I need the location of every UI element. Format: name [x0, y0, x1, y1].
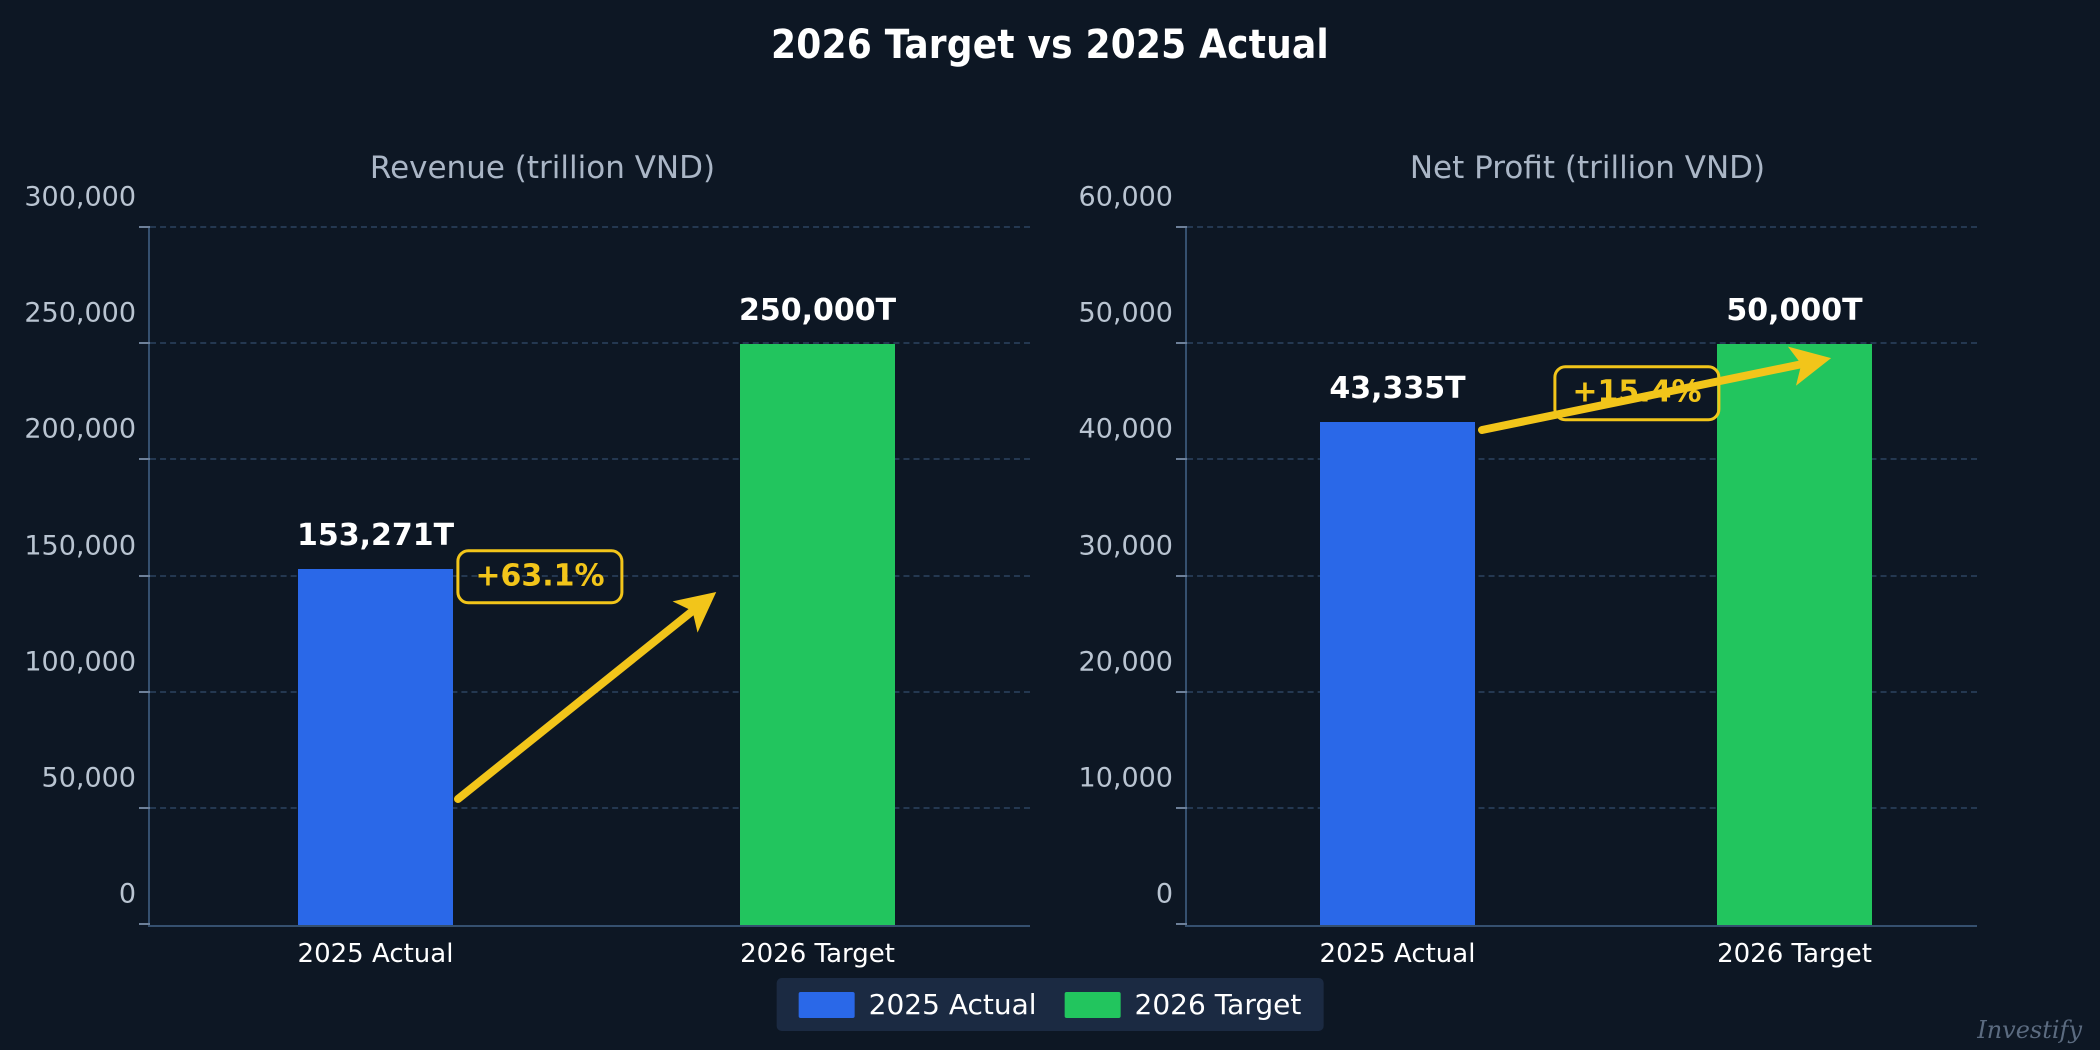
legend-label: 2026 Target: [1135, 988, 1302, 1021]
legend-item-2026-target[interactable]: 2026 Target: [1065, 988, 1302, 1021]
bar-revenue-2025-actual[interactable]: [298, 569, 453, 925]
legend-label: 2025 Actual: [869, 988, 1037, 1021]
ytick-label: 0: [119, 879, 136, 910]
ytick-label: 150,000: [24, 530, 136, 561]
legend-swatch-green: [1065, 992, 1121, 1018]
bar-value-label: 50,000T: [1726, 293, 1862, 328]
ytick-label: 30,000: [1079, 530, 1173, 561]
growth-badge-revenue: +63.1%: [456, 549, 623, 605]
ytick-label: 0: [1156, 879, 1173, 910]
bar-revenue-2026-target[interactable]: [740, 344, 895, 925]
xtick-label: 2026 Target: [740, 939, 895, 969]
subplot-title-net-profit: Net Profit (trillion VND): [1050, 150, 2100, 186]
ytick-label: 10,000: [1079, 762, 1173, 793]
ytick-label: 20,000: [1079, 646, 1173, 677]
ytick-label: 40,000: [1079, 414, 1173, 445]
watermark: Investify: [1977, 1016, 2082, 1044]
ytick-label: 100,000: [24, 646, 136, 677]
legend-item-2025-actual[interactable]: 2025 Actual: [799, 988, 1037, 1021]
plot-area-net-profit: 60,000 50,000 40,000 30,000 20,000 10,00…: [1185, 228, 1977, 927]
bar-value-label: 250,000T: [739, 293, 896, 328]
chart-figure: 2026 Target vs 2025 Actual Revenue (tril…: [0, 0, 2100, 1050]
plot-area-revenue: 300,000 250,000 200,000 150,000 100,000 …: [148, 228, 1030, 927]
xtick-label: 2025 Actual: [298, 939, 454, 969]
ytick-label: 60,000: [1079, 182, 1173, 213]
bar-net-profit-2025-actual[interactable]: [1320, 422, 1475, 926]
bar-value-label: 153,271T: [297, 518, 454, 553]
legend: 2025 Actual 2026 Target: [777, 978, 1324, 1031]
ytick-label: 300,000: [24, 182, 136, 213]
ytick-label: 50,000: [42, 762, 136, 793]
ytick-label: 250,000: [24, 298, 136, 329]
ytick-label: 200,000: [24, 414, 136, 445]
growth-badge-net-profit: +15.4%: [1553, 365, 1720, 421]
legend-swatch-blue: [799, 992, 855, 1018]
bar-value-label: 43,335T: [1329, 371, 1465, 406]
xtick-label: 2026 Target: [1717, 939, 1872, 969]
bar-net-profit-2026-target[interactable]: [1717, 344, 1872, 925]
xtick-label: 2025 Actual: [1320, 939, 1476, 969]
ytick-label: 50,000: [1079, 298, 1173, 329]
subplot-title-revenue: Revenue (trillion VND): [0, 150, 1050, 186]
subplot-revenue: Revenue (trillion VND) 300,000 250,000 2…: [0, 0, 1050, 1050]
